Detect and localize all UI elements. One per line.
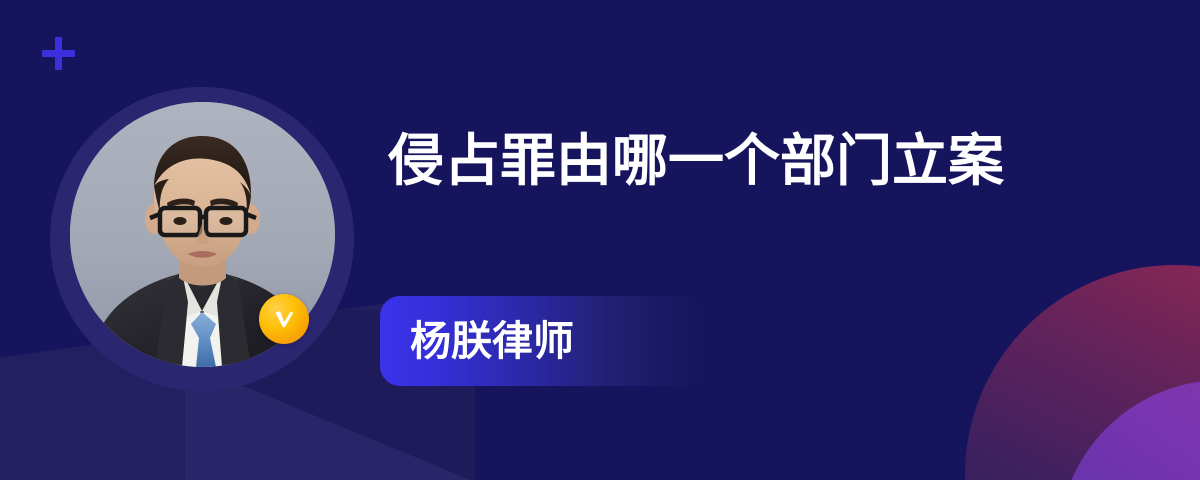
gradient-circle-inner (1058, 380, 1200, 480)
verified-v-icon (259, 294, 309, 344)
qa-cover-card: 侵占罪由哪一个部门立案 杨朕律师 (0, 0, 1200, 480)
plus-icon (42, 37, 75, 70)
gradient-circle-outer (965, 265, 1200, 480)
page-title: 侵占罪由哪一个部门立案 (388, 130, 1004, 194)
lawyer-name-label: 杨朕律师 (410, 317, 574, 365)
lawyer-name-badge[interactable]: 杨朕律师 (380, 296, 706, 386)
avatar[interactable] (50, 87, 354, 391)
